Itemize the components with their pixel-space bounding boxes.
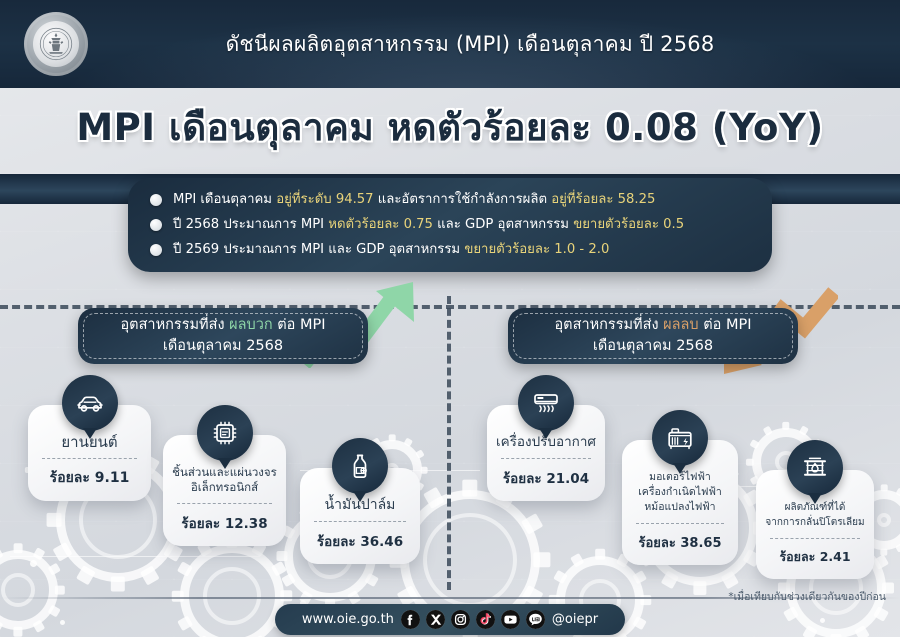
gear-tooth (33, 547, 45, 560)
header-title: ดัชนีผลผลิตอุตสาหกรรม (MPI) เดือนตุลาคม … (0, 0, 900, 88)
gear-tooth (403, 438, 412, 448)
positive-keyword: ผลบวก (229, 317, 273, 333)
industry-card: ชิ้นส่วนและแผ่นวงจรอิเล็กทรอนิกส์ร้อยละ … (163, 435, 286, 546)
website-url[interactable]: www.oie.go.th (302, 612, 394, 627)
bullet-dot-icon (150, 219, 162, 231)
summary-bullet-row: ปี 2569 ประมาณการ MPI และ GDP อุตสาหกรรม… (150, 240, 750, 259)
gear-tooth (763, 425, 774, 436)
oil-barrel-icon-glyph (800, 453, 830, 483)
infographic-page: ดัชนีผลผลิตอุตสาหกรรม (MPI) เดือนตุลาคม … (0, 0, 900, 637)
card-separator (314, 521, 406, 522)
gear-tooth (76, 566, 95, 586)
gear-tooth (48, 605, 61, 617)
industry-name: มอเตอร์ไฟฟ้าเครื่องกำเนิดไฟฟ้าหม้อแปลงไฟ… (628, 470, 732, 515)
line-icon[interactable] (526, 610, 545, 629)
gear-tooth (0, 547, 3, 560)
decorative-dot (820, 618, 825, 623)
footnote: *เมื่อเทียบกับช่วงเดียวกันของปีก่อน (728, 588, 886, 605)
gear-tooth (177, 615, 194, 631)
section-header-positive: อุตสาหกรรมที่ส่ง ผลบวก ต่อ MPI เดือนตุลา… (78, 308, 368, 364)
industry-percentage: ร้อยละ 36.46 (306, 530, 414, 552)
gear-tooth (420, 467, 427, 474)
industry-percentage: ร้อยละ 38.65 (628, 532, 732, 553)
gear-tooth (172, 590, 184, 601)
gear-tooth (14, 543, 23, 553)
card-separator (177, 503, 272, 504)
gear-tooth (746, 458, 754, 465)
footer-contact-bar: www.oie.go.th @oiepr (275, 604, 625, 635)
bullet-dot-icon (150, 244, 162, 256)
industry-percentage: ร้อยละ 21.04 (493, 467, 599, 489)
card-separator (42, 458, 137, 459)
generator-icon-glyph (665, 423, 695, 453)
tiktok-icon-glyph (476, 610, 495, 629)
gear-tooth (48, 563, 61, 575)
social-icon-group (401, 610, 545, 629)
gear-tooth (53, 542, 73, 561)
gear-tooth (553, 570, 567, 584)
industry-percentage: ร้อยละ 2.41 (762, 547, 868, 567)
gear-tooth (661, 571, 679, 589)
gear-tooth (854, 625, 870, 637)
gear-tooth (271, 561, 288, 577)
industry-card: เครื่องปรับอากาศร้อยละ 21.04 (487, 405, 605, 501)
gear-tooth (47, 513, 62, 527)
vertical-dashed-divider (447, 296, 451, 590)
gear-tooth (873, 554, 889, 570)
gear-tooth (462, 480, 477, 497)
bullet-plain: และอัตราการใช้กำลังการผลิต (374, 192, 552, 207)
negative-title-line1: อุตสาหกรรมที่ส่ง ผลลบ ต่อ MPI (554, 315, 751, 336)
gear-tooth (364, 573, 379, 587)
bullet-highlight: อยู่ที่ร้อยละ 58.25 (551, 192, 655, 207)
bullet-highlight: หดตัวร้อยละ 0.75 (328, 217, 433, 232)
gear-tooth (280, 590, 292, 601)
gear-tooth (415, 449, 425, 458)
gear-tooth (33, 620, 45, 633)
gear-tooth (881, 548, 888, 555)
gear-tooth (783, 606, 799, 622)
x-icon-glyph (426, 610, 445, 629)
bottle-icon (332, 438, 388, 494)
tiktok-icon[interactable] (476, 610, 495, 629)
negative-title-line2: เดือนตุลาคม 2568 (593, 336, 713, 357)
gear-tooth (873, 606, 889, 622)
social-handle: @oiepr (552, 612, 598, 627)
gear-tooth (749, 439, 760, 450)
negative-keyword: ผลลบ (663, 317, 698, 333)
gear-shape (0, 550, 58, 630)
gear-tooth (0, 620, 3, 633)
bullet-plain: ปี 2568 ประมาณการ MPI (173, 217, 328, 232)
x-icon[interactable] (426, 610, 445, 629)
decorative-dot (30, 560, 37, 567)
gear-tooth (55, 586, 65, 595)
industry-percentage: ร้อยละ 9.11 (34, 467, 145, 489)
industry-name-line: หม้อแปลงไฟฟ้า (628, 500, 732, 515)
gear-tooth (276, 551, 287, 561)
instagram-icon-glyph (451, 610, 470, 629)
industry-name-line: จากการกลั่นปิโตรเลียม (762, 515, 868, 530)
gear-tooth (177, 561, 194, 577)
gear-tooth (633, 616, 647, 630)
industry-name-line: อิเล็กทรอนิกส์ (169, 480, 280, 495)
summary-card: MPI เดือนตุลาคม อยู่ที่ระดับ 94.57 และอั… (128, 178, 772, 272)
card-separator (501, 458, 591, 459)
gear-tooth (111, 577, 125, 592)
youtube-icon[interactable] (501, 610, 520, 629)
bullet-plain: ปี 2569 ประมาณการ MPI และ GDP อุตสาหกรรม (173, 242, 464, 257)
card-separator (636, 523, 724, 524)
industry-name: ผลิตภัณฑ์ที่ได้จากการกลั่นปิโตรเลียม (762, 500, 868, 530)
car-icon (62, 375, 118, 431)
oil-barrel-icon (787, 440, 843, 496)
positive-title-line2: เดือนตุลาคม 2568 (163, 336, 283, 357)
bullet-plain: MPI เดือนตุลาคม (173, 192, 276, 207)
gear-shape (180, 544, 284, 637)
gear-tooth (802, 625, 818, 637)
bullet-highlight: ขยายตัวร้อยละ 0.5 (573, 217, 684, 232)
decorative-line (10, 556, 260, 557)
industry-percentage: ร้อยละ 12.38 (169, 512, 280, 534)
gear-tooth (14, 627, 23, 637)
section-header-negative: อุตสาหกรรมที่ส่ง ผลลบ ต่อ MPI เดือนตุลาค… (508, 308, 798, 364)
summary-bullet-text: ปี 2568 ประมาณการ MPI หดตัวร้อยละ 0.75 แ… (173, 215, 684, 234)
industry-name-line: เครื่องกำเนิดไฟฟ้า (628, 485, 732, 500)
air-conditioner-icon (518, 375, 574, 431)
chip-icon-glyph (210, 418, 240, 448)
bullet-highlight: ขยายตัวร้อยละ 1.0 - 2.0 (464, 242, 609, 257)
industry-name: ชิ้นส่วนและแผ่นวงจรอิเล็กทรอนิกส์ (169, 465, 280, 495)
industry-card: น้ำมันปาล์มร้อยละ 36.46 (300, 468, 420, 564)
instagram-icon[interactable] (451, 610, 470, 629)
gear-tooth (423, 487, 445, 509)
industry-card: มอเตอร์ไฟฟ้าเครื่องกำเนิดไฟฟ้าหม้อแปลงไฟ… (622, 440, 738, 565)
negative-prefix: อุตสาหกรรมที่ส่ง (554, 317, 663, 333)
facebook-icon-glyph (401, 610, 420, 629)
air-conditioner-icon-glyph (531, 388, 561, 418)
summary-bullet-text: MPI เดือนตุลาคม อยู่ที่ระดับ 94.57 และอั… (173, 190, 655, 209)
gear-tooth (799, 425, 810, 436)
summary-bullet-row: ปี 2568 ประมาณการ MPI หดตัวร้อยละ 0.75 แ… (150, 215, 750, 234)
positive-title-line1: อุตสาหกรรมที่ส่ง ผลบวก ต่อ MPI (120, 315, 325, 336)
chip-icon (197, 405, 253, 461)
gear-tooth (721, 571, 739, 589)
card-separator (770, 538, 860, 539)
decorative-dot (60, 620, 65, 625)
summary-bullet-list: MPI เดือนตุลาคม อยู่ที่ระดับ 94.57 และอั… (150, 190, 750, 259)
generator-icon (652, 410, 708, 466)
gear-tooth (782, 422, 789, 430)
line-icon-glyph (526, 610, 545, 629)
car-icon-glyph (75, 388, 105, 418)
bullet-highlight: อยู่ที่ระดับ 94.57 (276, 192, 373, 207)
gear-tooth (140, 566, 159, 586)
positive-suffix: ต่อ MPI (273, 317, 326, 333)
gear-tooth (521, 513, 543, 535)
negative-suffix: ต่อ MPI (699, 317, 752, 333)
gear-tooth (881, 484, 888, 491)
positive-prefix: อุตสาหกรรมที่ส่ง (120, 317, 229, 333)
industry-card: ผลิตภัณฑ์ที่ได้จากการกลั่นปิโตรเลียมร้อย… (756, 470, 874, 579)
youtube-icon-glyph (501, 610, 520, 629)
bottle-icon-glyph (345, 451, 375, 481)
gear-tooth (694, 581, 707, 595)
gear-tooth (281, 573, 296, 587)
gear-tooth (534, 552, 551, 567)
gear-tooth (570, 553, 584, 567)
gear-tooth (389, 434, 396, 441)
facebook-icon[interactable] (401, 610, 420, 629)
page-header: ดัชนีผลผลิตอุตสาหกรรม (MPI) เดือนตุลาคม … (0, 0, 900, 88)
gear-tooth (616, 633, 630, 637)
industry-card: ยานยนต์ร้อยละ 9.11 (28, 405, 151, 501)
main-headline: MPI เดือนตุลาคม หดตัวร้อยละ 0.08 (YoY) (0, 96, 900, 158)
gear-tooth (895, 543, 900, 553)
gear-tooth (895, 488, 900, 498)
summary-bullet-text: ปี 2569 ประมาณการ MPI และ GDP อุตสาหกรรม… (173, 240, 609, 259)
bullet-plain: และ GDP อุตสาหกรรม (433, 217, 573, 232)
summary-bullet-row: MPI เดือนตุลาคม อยู่ที่ระดับ 94.57 และอั… (150, 190, 750, 209)
gear-tooth (633, 570, 647, 584)
bullet-dot-icon (150, 194, 162, 206)
gear-tooth (595, 549, 605, 560)
